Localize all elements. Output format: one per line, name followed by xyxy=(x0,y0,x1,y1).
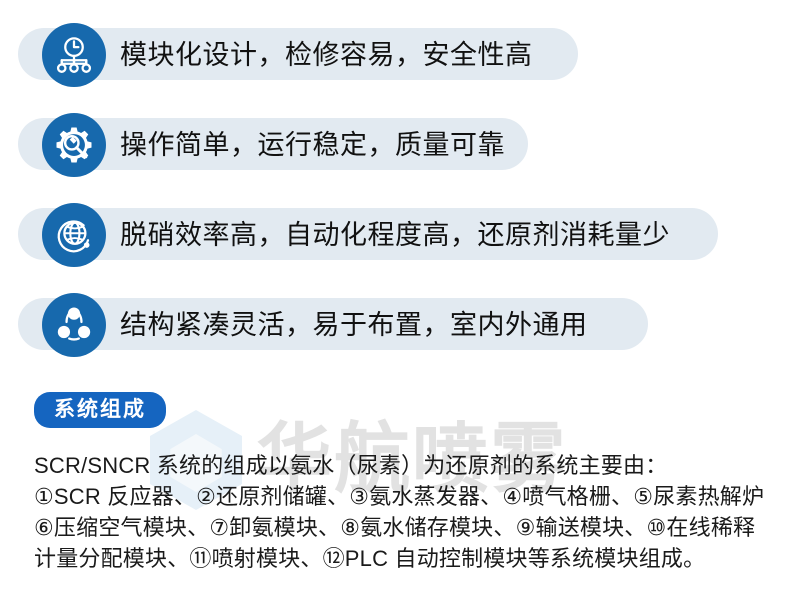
gear-wrench-icon xyxy=(42,113,106,177)
feature-text: 脱硝效率高，自动化程度高，还原剂消耗量少 xyxy=(120,222,670,249)
feature-text: 结构紧凑灵活，易于布置，室内外通用 xyxy=(120,312,588,339)
feature-row: 操作简单，运行稳定，质量可靠 xyxy=(0,100,790,190)
network-share-icon xyxy=(42,293,106,357)
globe-icon xyxy=(42,203,106,267)
paragraph-line: 计量分配模块、⑪喷射模块、⑫PLC 自动控制模块等系统模块组成。 xyxy=(34,543,770,574)
feature-row: 脱硝效率高，自动化程度高，还原剂消耗量少 xyxy=(0,190,790,280)
feature-row: 模块化设计，检修容易，安全性高 xyxy=(0,10,790,100)
section-header: 系统组成 xyxy=(0,392,790,428)
feature-row: 结构紧凑灵活，易于布置，室内外通用 xyxy=(0,280,790,370)
paragraph-line: ⑥压缩空气模块、⑦卸氨模块、⑧氨水储存模块、⑨输送模块、⑩在线稀释 xyxy=(34,512,770,543)
section-paragraph: SCR/SNCR 系统的组成以氨水（尿素）为还原剂的系统主要由： ①SCR 反应… xyxy=(0,450,790,574)
paragraph-line: ①SCR 反应器、②还原剂储罐、③氨水蒸发器、④喷气格栅、⑤尿素热解炉 xyxy=(34,481,770,512)
feature-list: 模块化设计，检修容易，安全性高 操作简单，运行稳定，质量可靠 xyxy=(0,0,790,370)
feature-text: 模块化设计，检修容易，安全性高 xyxy=(120,42,533,69)
clock-hierarchy-icon xyxy=(42,23,106,87)
status-badge: 系统组成 xyxy=(34,392,166,428)
paragraph-line: SCR/SNCR 系统的组成以氨水（尿素）为还原剂的系统主要由： xyxy=(34,450,770,481)
feature-text: 操作简单，运行稳定，质量可靠 xyxy=(120,132,505,159)
